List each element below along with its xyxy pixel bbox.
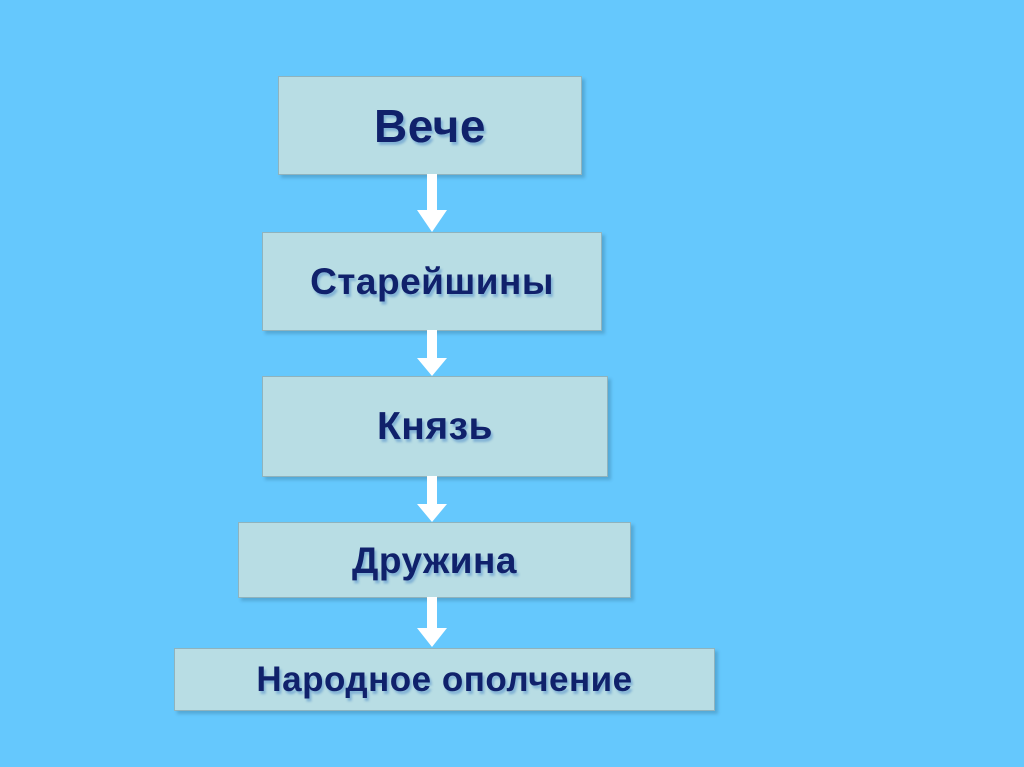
flowchart-node-label: Народное ополчение	[256, 662, 632, 697]
flowchart-node-label: Дружина	[352, 542, 517, 579]
flow-arrow-down-icon	[416, 597, 448, 649]
flow-arrow-down-icon	[416, 174, 448, 234]
slide-canvas: Вече Старейшины Князь Дружина Народное о…	[0, 0, 1024, 767]
flowchart-node-veche[interactable]: Вече	[278, 76, 582, 175]
flowchart-node-label: Старейшины	[310, 263, 554, 300]
flowchart-node-label: Князь	[377, 407, 493, 446]
flowchart-node-stareishiny[interactable]: Старейшины	[262, 232, 602, 331]
flowchart-node-knyaz[interactable]: Князь	[262, 376, 608, 477]
flowchart-node-narodnoe-opolchenie[interactable]: Народное ополчение	[174, 648, 715, 711]
flow-arrow-down-icon	[416, 476, 448, 524]
flow-arrow-down-icon	[416, 330, 448, 378]
flowchart-node-druzhina[interactable]: Дружина	[238, 522, 631, 598]
flowchart-node-label: Вече	[374, 103, 486, 149]
